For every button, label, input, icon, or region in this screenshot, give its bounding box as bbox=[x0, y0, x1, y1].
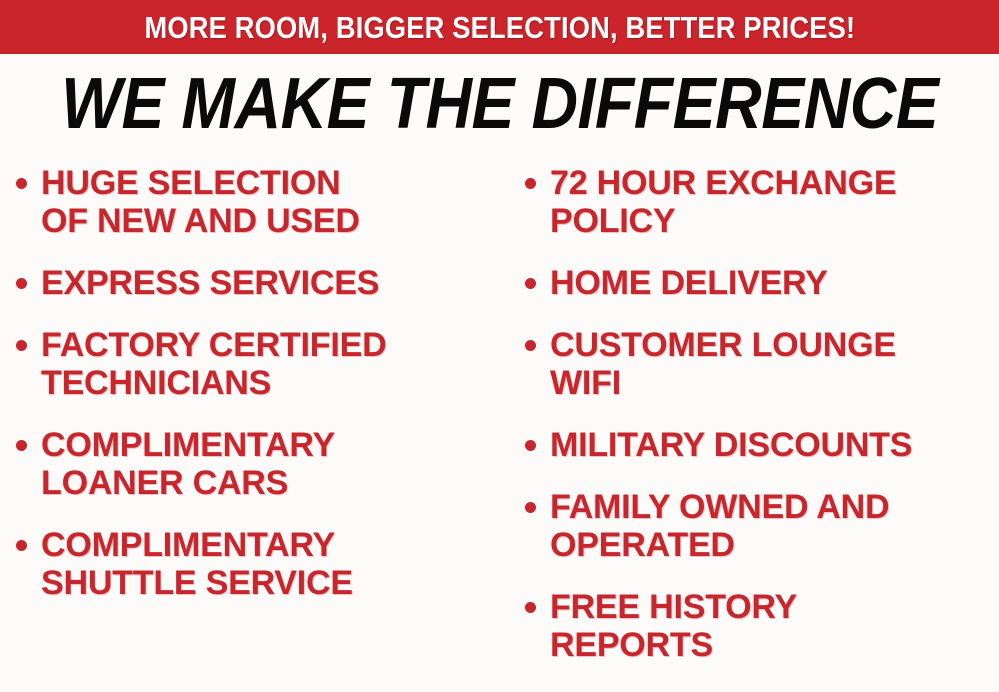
list-item: COMPLIMENTARY SHUTTLE SERVICE bbox=[16, 526, 505, 602]
list-item: CUSTOMER LOUNGE WIFI bbox=[525, 326, 999, 402]
feature-label: CUSTOMER LOUNGE WIFI bbox=[550, 326, 896, 402]
feature-label: COMPLIMENTARY LOANER CARS bbox=[41, 426, 335, 502]
bullet-dot-icon bbox=[16, 440, 27, 451]
promo-banner: MORE ROOM, BIGGER SELECTION, BETTER PRIC… bbox=[0, 0, 999, 54]
feature-label: HOME DELIVERY bbox=[550, 264, 828, 302]
bullet-dot-icon bbox=[525, 340, 536, 351]
list-item: MILITARY DISCOUNTS bbox=[525, 426, 999, 464]
list-item: 72 HOUR EXCHANGE POLICY bbox=[525, 164, 999, 240]
features-column-right: 72 HOUR EXCHANGE POLICY HOME DELIVERY CU… bbox=[505, 152, 999, 664]
advertisement-banner: MORE ROOM, BIGGER SELECTION, BETTER PRIC… bbox=[0, 0, 999, 692]
list-item: HOME DELIVERY bbox=[525, 264, 999, 302]
bullet-dot-icon bbox=[525, 440, 536, 451]
bullet-dot-icon bbox=[16, 340, 27, 351]
list-item: FREE HISTORY REPORTS bbox=[525, 588, 999, 664]
bullet-dot-icon bbox=[525, 178, 536, 189]
feature-label: HUGE SELECTION OF NEW AND USED bbox=[41, 164, 360, 240]
headline-container: WE MAKE THE DIFFERENCE bbox=[0, 62, 999, 144]
page-title: WE MAKE THE DIFFERENCE bbox=[61, 67, 938, 140]
bullet-dot-icon bbox=[525, 602, 536, 613]
list-item: EXPRESS SERVICES bbox=[16, 264, 505, 302]
bullet-dot-icon bbox=[16, 278, 27, 289]
list-item: HUGE SELECTION OF NEW AND USED bbox=[16, 164, 505, 240]
list-item: COMPLIMENTARY LOANER CARS bbox=[16, 426, 505, 502]
bullet-dot-icon bbox=[16, 178, 27, 189]
list-item: FAMILY OWNED AND OPERATED bbox=[525, 488, 999, 564]
feature-label: EXPRESS SERVICES bbox=[41, 264, 379, 302]
bullet-dot-icon bbox=[525, 278, 536, 289]
bullet-dot-icon bbox=[16, 540, 27, 551]
list-item: FACTORY CERTIFIED TECHNICIANS bbox=[16, 326, 505, 402]
feature-label: COMPLIMENTARY SHUTTLE SERVICE bbox=[41, 526, 353, 602]
features-column-left: HUGE SELECTION OF NEW AND USED EXPRESS S… bbox=[0, 152, 505, 602]
promo-banner-text: MORE ROOM, BIGGER SELECTION, BETTER PRIC… bbox=[144, 12, 855, 43]
feature-label: FAMILY OWNED AND OPERATED bbox=[550, 488, 889, 564]
features-columns: HUGE SELECTION OF NEW AND USED EXPRESS S… bbox=[0, 152, 999, 692]
feature-label: 72 HOUR EXCHANGE POLICY bbox=[550, 164, 896, 240]
feature-label: FACTORY CERTIFIED TECHNICIANS bbox=[41, 326, 386, 402]
feature-label: MILITARY DISCOUNTS bbox=[550, 426, 912, 464]
bullet-dot-icon bbox=[525, 502, 536, 513]
feature-label: FREE HISTORY REPORTS bbox=[550, 588, 797, 664]
